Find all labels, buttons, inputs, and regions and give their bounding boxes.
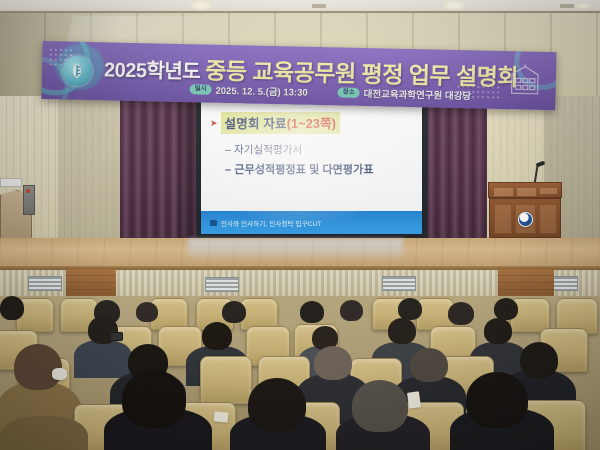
audience-head: [14, 344, 62, 390]
floor-vent: [205, 277, 239, 292]
banner-location-group: 장소 대전교육과학연구원 대강당: [338, 85, 472, 102]
downlight: [190, 1, 212, 10]
smartphone: [110, 332, 123, 341]
banner-datetime-group: 일시 2025. 12. 5.(금) 13:30: [189, 82, 307, 99]
audience-head: [248, 378, 306, 432]
audience-body: [0, 416, 88, 450]
audience-area: [0, 296, 600, 450]
slide-title-main: 설명회 자료: [225, 117, 287, 131]
school-building-icon: [504, 63, 547, 98]
auditorium-photo: ➤ 설명회 자료(1~23쪽) – 자기실적평가서 – 근무성적평정표 및 다면…: [0, 0, 600, 450]
slide-bullet-1: – 자기실적평가서: [225, 142, 302, 157]
podium-panel: [539, 204, 557, 234]
podium-emblem-icon: [518, 212, 533, 227]
face-mask: [52, 368, 67, 380]
slide-bullet-2: – 근무성적평정표 및 다면평가표: [225, 161, 374, 177]
audience-head: [484, 318, 512, 344]
audience-head: [410, 348, 448, 382]
floor-vent: [28, 276, 62, 291]
podium-top-panel: [539, 187, 558, 195]
screen-reflection: [188, 239, 403, 261]
stage-curtain-left: [120, 96, 178, 249]
audience-head: [0, 296, 24, 320]
podium-top: [488, 182, 562, 198]
audience-head: [222, 301, 246, 323]
handout-paper: [407, 391, 421, 409]
bullet-arrow-icon: ➤: [210, 119, 218, 128]
ceiling-vent: [312, 4, 326, 8]
audience-head: [398, 298, 422, 320]
audience-head: [448, 302, 474, 325]
audience-head: [136, 302, 158, 322]
floor-vent: [382, 276, 416, 291]
audience-head: [494, 298, 518, 320]
audience-head: [388, 318, 416, 344]
slide-title: 설명회 자료(1~23쪽): [221, 112, 341, 134]
ceiling-vent: [560, 4, 574, 8]
footer-marker-icon: [210, 220, 217, 226]
wooden-podium: [488, 182, 562, 238]
audience-head: [314, 346, 352, 380]
audience-head: [466, 372, 528, 428]
banner-datetime-text: 2025. 12. 5.(금) 13:30: [215, 83, 307, 99]
audience-body: [74, 340, 132, 378]
audience-head: [340, 300, 363, 321]
event-banner: 2025학년도 중등 교육공무원 평정 업무 설명회 일시 2025. 12. …: [41, 41, 556, 110]
projection-screen: ➤ 설명회 자료(1~23쪽) – 자기실적평가서 – 근무성적평정표 및 다면…: [201, 99, 422, 234]
slide-footer-text: 인사와 인사하기, 인사청탁 입구CUT: [221, 218, 321, 228]
stage-curtain-right: [425, 96, 487, 246]
podium-panel: [494, 204, 512, 234]
audience-head: [122, 370, 186, 428]
audience-head: [202, 322, 232, 350]
audience-head: [520, 342, 558, 378]
stage-equipment-device: [23, 185, 35, 215]
seat: [200, 356, 252, 404]
stage-equipment-panel: [0, 178, 22, 187]
handout-paper: [214, 411, 229, 422]
banner-location-text: 대전교육과학연구원 대강당: [364, 86, 472, 102]
downlight: [575, 3, 591, 9]
datetime-chip: 일시: [190, 84, 212, 94]
location-chip: 장소: [338, 88, 360, 98]
downlight: [443, 1, 465, 10]
audience-head: [300, 301, 324, 323]
banner-year: 2025학년도: [104, 53, 201, 84]
slide-footer-bar: 인사와 인사하기, 인사청탁 입구CUT: [201, 211, 422, 234]
podium-body: [489, 198, 561, 238]
audience-head: [352, 380, 408, 432]
slide-title-row: ➤ 설명회 자료(1~23쪽): [210, 112, 340, 134]
slide-title-pages: (1~23쪽): [287, 117, 336, 131]
